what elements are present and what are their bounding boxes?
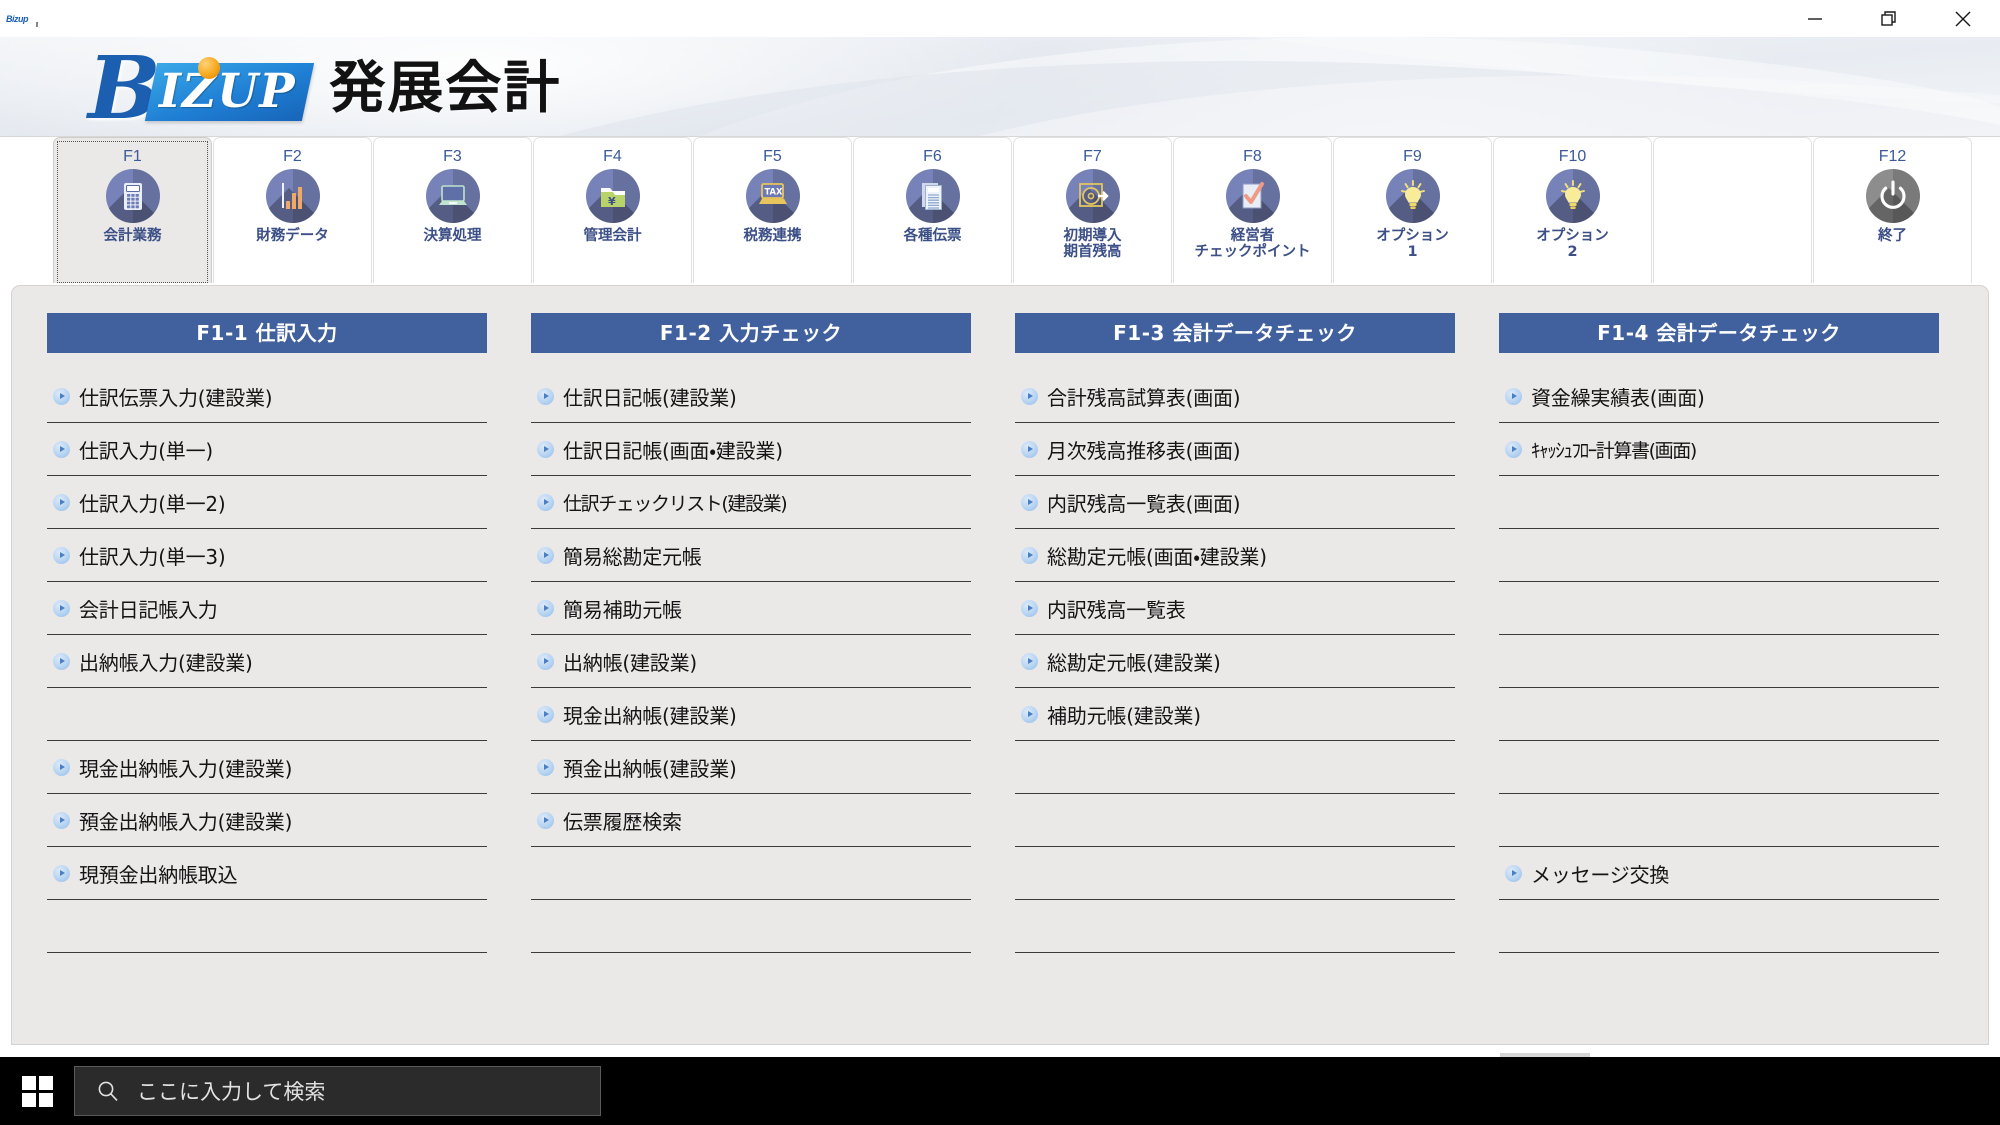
calculator-icon (106, 169, 160, 223)
menu-item-label: 出納帳入力(建設業) (79, 647, 253, 676)
function-tab-f3-laptop[interactable]: F3決算処理 (373, 137, 532, 283)
function-tab-key: F9 (1403, 147, 1422, 166)
menu-item-empty (1015, 847, 1455, 900)
arrow-bullet-icon (1505, 865, 1522, 882)
menu-column-header: F1-3 会計データチェック (1015, 313, 1455, 353)
arrow-bullet-icon (53, 388, 70, 405)
menu-item[interactable]: 仕訳伝票入力(建設業) (47, 370, 487, 423)
menu-item-label: 月次残高推移表(画面) (1047, 435, 1240, 464)
arrow-bullet-icon (53, 812, 70, 829)
function-tab-key: F4 (603, 147, 622, 166)
menu-item-label: 現金出納帳(建設業) (563, 700, 737, 729)
function-tab-key: F6 (923, 147, 942, 166)
menu-item-label: 総勘定元帳(画面・建設業) (1047, 541, 1267, 570)
power-icon (1866, 169, 1920, 223)
arrow-bullet-icon (53, 653, 70, 670)
function-tab-label: 会計業務 (104, 228, 162, 244)
documents-icon (906, 169, 960, 223)
svg-text:TAX: TAX (764, 187, 783, 197)
menu-item-empty (531, 847, 971, 900)
menu-item-list: 合計残高試算表(画面)月次残高推移表(画面)内訳残高一覧表(画面)総勘定元帳(画… (1015, 370, 1455, 953)
svg-text:¥: ¥ (608, 195, 616, 208)
logo-orange-dot-icon (198, 57, 220, 79)
arrow-bullet-icon (53, 441, 70, 458)
arrow-bullet-icon (1021, 547, 1038, 564)
arrow-bullet-icon (53, 865, 70, 882)
menu-item[interactable]: 仕訳入力(単一) (47, 423, 487, 476)
function-key-tabbar: F1会計業務F2財務データF3決算処理F4¥管理会計F5TAX税務連携F6各種伝… (0, 137, 2000, 285)
menu-item-empty (1015, 900, 1455, 953)
function-tab-f6-documents[interactable]: F6各種伝票 (853, 137, 1012, 283)
menu-item[interactable]: 仕訳日記帳(建設業) (531, 370, 971, 423)
function-tab-label: 財務データ (256, 228, 329, 244)
app-banner: B IZUP 発展会計 (0, 37, 2000, 137)
menu-item[interactable]: 合計残高試算表(画面) (1015, 370, 1455, 423)
menu-item[interactable]: 現金出納帳入力(建設業) (47, 741, 487, 794)
function-tab-key: F1 (123, 147, 142, 166)
menu-item-label: 仕訳入力(単一3) (79, 541, 226, 570)
arrow-bullet-icon (1021, 706, 1038, 723)
arrow-bullet-icon (1505, 388, 1522, 405)
arrow-bullet-icon (1021, 653, 1038, 670)
menu-item-label: メッセージ交換 (1531, 859, 1669, 888)
menu-item-empty (1015, 741, 1455, 794)
menu-item-label: 会計日記帳入力 (79, 594, 218, 623)
lightbulb-icon (1546, 169, 1600, 223)
yen-folder-icon: ¥ (586, 169, 640, 223)
menu-column-4: F1-4 会計データチェック資金繰実績表(画面)ｷｬｯｼｭﾌﾛｰ計算書(画面)メ… (1499, 313, 1939, 953)
menu-item-label: 簡易総勘定元帳 (563, 541, 702, 570)
function-tab-key: F2 (283, 147, 302, 166)
arrow-bullet-icon (1021, 388, 1038, 405)
menu-item[interactable]: 伝票履歴検索 (531, 794, 971, 847)
menu-item[interactable]: 現金出納帳(建設業) (531, 688, 971, 741)
menu-item-label: 総勘定元帳(建設業) (1047, 647, 1221, 676)
arrow-bullet-icon (53, 494, 70, 511)
function-tab-f5-tax-laptop[interactable]: F5TAX税務連携 (693, 137, 852, 283)
menu-item[interactable]: 仕訳入力(単一2) (47, 476, 487, 529)
product-title: 発展会計 (329, 51, 561, 127)
function-tab-key: F5 (763, 147, 782, 166)
function-tab-label: 決算処理 (424, 228, 482, 244)
menu-item-empty (1499, 741, 1939, 794)
menu-item-label: 現金出納帳入力(建設業) (79, 753, 292, 782)
window-titlebar: Bizup (0, 0, 2000, 38)
menu-item-empty (1499, 529, 1939, 582)
arrow-bullet-icon (53, 600, 70, 617)
start-button[interactable] (0, 1057, 74, 1125)
function-tab-label: 管理会計 (584, 228, 642, 244)
menu-column-header: F1-4 会計データチェック (1499, 313, 1939, 353)
menu-item-empty (1499, 582, 1939, 635)
bizup-app-icon: Bizup (6, 9, 28, 29)
titlebar-marker (36, 22, 38, 27)
menu-item-label: 出納帳(建設業) (563, 647, 697, 676)
taskbar-search-input[interactable]: ここに入力して検索 (74, 1066, 601, 1116)
search-icon (95, 1078, 121, 1104)
checklist-icon (1226, 169, 1280, 223)
menu-item-empty (1015, 794, 1455, 847)
function-tab-label: 税務連携 (744, 228, 802, 244)
function-tab-key: F7 (1083, 147, 1102, 166)
menu-item[interactable]: 月次残高推移表(画面) (1015, 423, 1455, 476)
arrow-bullet-icon (1021, 600, 1038, 617)
menu-item-empty (1499, 900, 1939, 953)
function-tab-f1-calculator[interactable]: F1会計業務 (53, 137, 212, 283)
bar-chart-icon (266, 169, 320, 223)
menu-item[interactable]: 仕訳チェックリスト(建設業) (531, 476, 971, 529)
bizup-logo: B IZUP 発展会計 (88, 51, 561, 127)
menu-item-label: 仕訳入力(単一2) (79, 488, 226, 517)
function-tab-f2-bar-chart[interactable]: F2財務データ (213, 137, 372, 283)
menu-item[interactable]: 総勘定元帳(建設業) (1015, 635, 1455, 688)
menu-item-label: 仕訳入力(単一) (79, 435, 213, 464)
menu-item-label: 預金出納帳入力(建設業) (79, 806, 292, 835)
function-tab-key: F3 (443, 147, 462, 166)
menu-item[interactable]: 総勘定元帳(画面・建設業) (1015, 529, 1455, 582)
menu-item-label: 資金繰実績表(画面) (1531, 382, 1705, 411)
menu-column-3: F1-3 会計データチェック合計残高試算表(画面)月次残高推移表(画面)内訳残高… (1015, 313, 1455, 953)
menu-item[interactable]: 預金出納帳(建設業) (531, 741, 971, 794)
logo-izup-text: IZUP (159, 67, 296, 117)
menu-column-header: F1-2 入力チェック (531, 313, 971, 353)
menu-item[interactable]: 簡易総勘定元帳 (531, 529, 971, 582)
function-tab-empty-10 (1653, 137, 1812, 283)
function-tab-key: F8 (1243, 147, 1262, 166)
arrow-bullet-icon (537, 706, 554, 723)
menu-item-label: 内訳残高一覧表(画面) (1047, 488, 1240, 517)
arrow-bullet-icon (53, 759, 70, 776)
function-tab-f4-yen-folder[interactable]: F4¥管理会計 (533, 137, 692, 283)
logo-izup-block: IZUP (145, 63, 314, 121)
function-tab-label: 終了 (1878, 228, 1907, 244)
menu-item[interactable]: 仕訳日記帳(画面・建設業) (531, 423, 971, 476)
menu-item-empty (1499, 688, 1939, 741)
function-tab-label: 各種伝票 (904, 228, 962, 244)
menu-item-empty (1499, 635, 1939, 688)
menu-item[interactable]: メッセージ交換 (1499, 847, 1939, 900)
arrow-bullet-icon (537, 388, 554, 405)
menu-item-label: 補助元帳(建設業) (1047, 700, 1201, 729)
function-tab-label: 経営者 チェックポイント (1195, 228, 1311, 260)
arrow-bullet-icon (1021, 494, 1038, 511)
arrow-bullet-icon (1021, 441, 1038, 458)
function-tab-key: F12 (1879, 147, 1907, 166)
function-tab-f10-lightbulb[interactable]: F10オプション 2 (1493, 137, 1652, 283)
menu-item-label: 仕訳チェックリスト(建設業) (563, 489, 786, 516)
menu-column-header: F1-1 仕訳入力 (47, 313, 487, 353)
menu-item[interactable]: 預金出納帳入力(建設業) (47, 794, 487, 847)
menu-item[interactable]: 現預金出納帳取込 (47, 847, 487, 900)
arrow-bullet-icon (537, 653, 554, 670)
laptop-icon (426, 169, 480, 223)
windows-logo-icon (22, 1076, 53, 1107)
windows-taskbar: ここに入力して検索 (0, 1057, 2000, 1125)
function-tab-f8-checklist[interactable]: F8経営者 チェックポイント (1173, 137, 1332, 283)
menu-item[interactable]: 仕訳入力(単一3) (47, 529, 487, 582)
menu-item-label: 伝票履歴検索 (563, 806, 682, 835)
function-tab-label: オプション 1 (1376, 228, 1449, 260)
arrow-bullet-icon (53, 547, 70, 564)
menu-item-label: 合計残高試算表(画面) (1047, 382, 1240, 411)
function-tab-key: F10 (1559, 147, 1587, 166)
menu-item-empty (1499, 794, 1939, 847)
menu-item[interactable]: 資金繰実績表(画面) (1499, 370, 1939, 423)
taskbar-search-placeholder: ここに入力して検索 (137, 1076, 325, 1106)
arrow-bullet-icon (537, 494, 554, 511)
menu-item-list: 仕訳日記帳(建設業)仕訳日記帳(画面・建設業)仕訳チェックリスト(建設業)簡易総… (531, 370, 971, 953)
menu-item-label: ｷｬｯｼｭﾌﾛｰ計算書(画面) (1531, 436, 1696, 463)
function-tab-f12-power[interactable]: F12終了 (1813, 137, 1972, 283)
menu-item-label: 簡易補助元帳 (563, 594, 682, 623)
disc-import-icon (1066, 169, 1120, 223)
menu-item-label: 仕訳伝票入力(建設業) (79, 382, 272, 411)
arrow-bullet-icon (1505, 441, 1522, 458)
menu-item[interactable]: 出納帳入力(建設業) (47, 635, 487, 688)
menu-item-label: 仕訳日記帳(画面・建設業) (563, 435, 783, 464)
menu-item-empty (531, 900, 971, 953)
menu-item[interactable]: 内訳残高一覧表 (1015, 582, 1455, 635)
menu-item-label: 仕訳日記帳(建設業) (563, 382, 737, 411)
menu-item[interactable]: 出納帳(建設業) (531, 635, 971, 688)
arrow-bullet-icon (537, 600, 554, 617)
minimize-button[interactable] (1778, 0, 1852, 37)
arrow-bullet-icon (537, 547, 554, 564)
menu-item-empty (47, 688, 487, 741)
function-tab-label: オプション 2 (1536, 228, 1609, 260)
menu-item-list: 仕訳伝票入力(建設業)仕訳入力(単一)仕訳入力(単一2)仕訳入力(単一3)会計日… (47, 370, 487, 953)
menu-item[interactable]: ｷｬｯｼｭﾌﾛｰ計算書(画面) (1499, 423, 1939, 476)
menu-item[interactable]: 会計日記帳入力 (47, 582, 487, 635)
function-tab-f9-lightbulb[interactable]: F9オプション 1 (1333, 137, 1492, 283)
menu-item-list: 資金繰実績表(画面)ｷｬｯｼｭﾌﾛｰ計算書(画面)メッセージ交換 (1499, 370, 1939, 953)
lightbulb-icon (1386, 169, 1440, 223)
function-tab-label: 初期導入 期首残高 (1064, 228, 1122, 260)
function-tab-f7-disc-import[interactable]: F7初期導入 期首残高 (1013, 137, 1172, 283)
menu-item[interactable]: 内訳残高一覧表(画面) (1015, 476, 1455, 529)
arrow-bullet-icon (537, 441, 554, 458)
menu-item[interactable]: 補助元帳(建設業) (1015, 688, 1455, 741)
menu-item-label: 内訳残高一覧表 (1047, 594, 1186, 623)
menu-item-label: 現預金出納帳取込 (79, 859, 237, 888)
window-controls (1778, 0, 2000, 37)
menu-item-label: 預金出納帳(建設業) (563, 753, 737, 782)
arrow-bullet-icon (537, 759, 554, 776)
menu-column-2: F1-2 入力チェック仕訳日記帳(建設業)仕訳日記帳(画面・建設業)仕訳チェック… (531, 313, 971, 953)
menu-columns: F1-1 仕訳入力仕訳伝票入力(建設業)仕訳入力(単一)仕訳入力(単一2)仕訳入… (12, 313, 1990, 953)
tax-laptop-icon: TAX (746, 169, 800, 223)
menu-item-empty (1499, 476, 1939, 529)
close-button[interactable] (1926, 0, 2000, 37)
menu-panel: F1-1 仕訳入力仕訳伝票入力(建設業)仕訳入力(単一)仕訳入力(単一2)仕訳入… (11, 285, 1989, 1045)
menu-item-empty (47, 900, 487, 953)
menu-item[interactable]: 簡易補助元帳 (531, 582, 971, 635)
menu-column-1: F1-1 仕訳入力仕訳伝票入力(建設業)仕訳入力(単一)仕訳入力(単一2)仕訳入… (47, 313, 487, 953)
restore-button[interactable] (1852, 0, 1926, 37)
arrow-bullet-icon (537, 812, 554, 829)
